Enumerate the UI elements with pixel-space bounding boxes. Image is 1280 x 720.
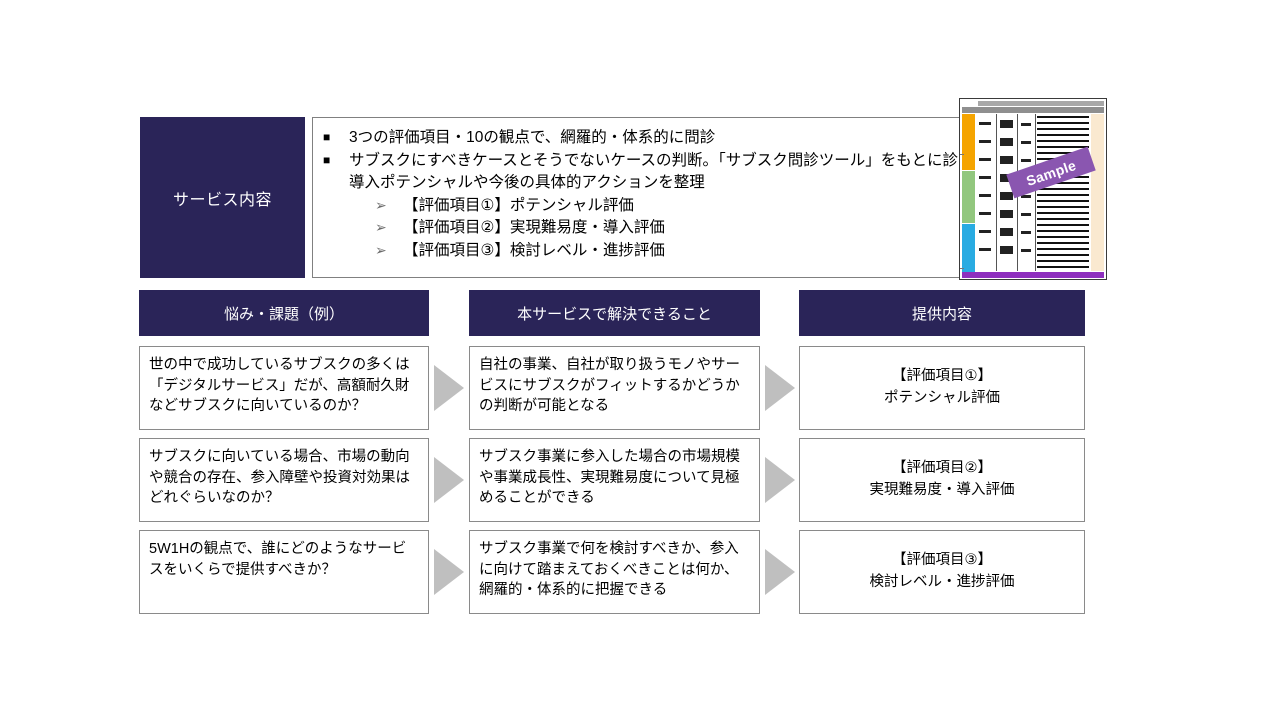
- deliverable-card-2: 【評価項目②】 実現難易度・導入評価: [799, 438, 1085, 522]
- arrow-bullet-icon: ➢: [375, 217, 403, 239]
- problem-card-3-text: 5W1Hの観点で、誰にどのようなサービスをいくらで提供すべきか？: [149, 541, 406, 578]
- column-header-solutions: 本サービスで解決できること: [469, 290, 760, 336]
- flow-arrow-icon: [765, 549, 795, 595]
- problem-card-3: 5W1Hの観点で、誰にどのようなサービスをいくらで提供すべきか？: [139, 530, 429, 614]
- solution-card-3: サブスク事業で何を検討すべきか、参入に向けて踏まえておくべきことは何か、網羅的・…: [469, 530, 760, 614]
- square-bullet-icon: ■: [323, 127, 349, 148]
- deliverable-card-3-line2: 検討レベル・進捗評価: [870, 572, 1015, 594]
- solution-card-1-text: 自社の事業、自社が取り扱うモノやサービスにサブスクがフィットするかどうかの判断が…: [479, 357, 740, 414]
- spreadsheet-header-row: [962, 107, 1104, 113]
- spreadsheet-category-band-1: [962, 114, 975, 170]
- column-header-deliverables-text: 提供内容: [912, 303, 972, 324]
- solution-card-2-text: サブスク事業に参入した場合の市場規模や事業成長性、実現難易度について見極めること…: [479, 449, 740, 506]
- column-header-solutions-text: 本サービスで解決できること: [517, 303, 712, 324]
- spreadsheet-category-band-3: [962, 224, 975, 274]
- deliverable-card-1-line2: ポテンシャル評価: [884, 388, 1000, 410]
- problem-card-2: サブスクに向いている場合、市場の動向や競合の存在、参入障壁や投資対効果はどれぐら…: [139, 438, 429, 522]
- spreadsheet-titlebar: [978, 101, 1104, 106]
- problem-card-2-text: サブスクに向いている場合、市場の動向や競合の存在、参入障壁や投資対効果はどれぐら…: [149, 449, 410, 506]
- column-header-problems-text: 悩み・課題（例）: [224, 303, 344, 324]
- flow-arrow-icon: [434, 365, 464, 411]
- flow-arrow-icon: [434, 457, 464, 503]
- deliverable-card-1-line1: 【評価項目①】: [892, 366, 992, 388]
- column-header-deliverables: 提供内容: [799, 290, 1085, 336]
- service-content-label-text: サービス内容: [173, 186, 272, 210]
- service-content-label: サービス内容: [140, 117, 305, 278]
- square-bullet-icon: ■: [323, 150, 349, 171]
- flow-arrow-icon: [765, 365, 795, 411]
- deliverable-card-3: 【評価項目③】 検討レベル・進捗評価: [799, 530, 1085, 614]
- problem-card-1-text: 世の中で成功しているサブスクの多くは「デジタルサービス」だが、高額耐久財などサブ…: [149, 357, 410, 414]
- column-header-problems: 悩み・課題（例）: [139, 290, 429, 336]
- deliverable-card-3-line1: 【評価項目③】: [892, 550, 992, 572]
- problem-card-1: 世の中で成功しているサブスクの多くは「デジタルサービス」だが、高額耐久財などサブ…: [139, 346, 429, 430]
- callout-rule: [959, 268, 964, 269]
- spreadsheet-column-a: [976, 114, 997, 271]
- spreadsheet-category-band-2: [962, 171, 975, 223]
- solution-card-2: サブスク事業に参入した場合の市場規模や事業成長性、実現難易度について見極めること…: [469, 438, 760, 522]
- solution-card-3-text: サブスク事業で何を検討すべきか、参入に向けて踏まえておくべきことは何か、網羅的・…: [479, 541, 739, 598]
- arrow-bullet-icon: ➢: [375, 240, 403, 262]
- spreadsheet-right-column: [1091, 114, 1104, 271]
- spreadsheet-detail-rows: [1036, 114, 1090, 271]
- callout-rule: [959, 154, 964, 155]
- arrow-bullet-icon: ➢: [375, 195, 403, 217]
- spreadsheet-footer-bar: [962, 272, 1104, 278]
- flow-arrow-icon: [434, 549, 464, 595]
- deliverable-card-2-line2: 実現難易度・導入評価: [870, 480, 1015, 502]
- solution-card-1: 自社の事業、自社が取り扱うモノやサービスにサブスクがフィットするかどうかの判断が…: [469, 346, 760, 430]
- deliverable-card-2-line1: 【評価項目②】: [892, 458, 992, 480]
- flow-arrow-icon: [765, 457, 795, 503]
- deliverable-card-1: 【評価項目①】 ポテンシャル評価: [799, 346, 1085, 430]
